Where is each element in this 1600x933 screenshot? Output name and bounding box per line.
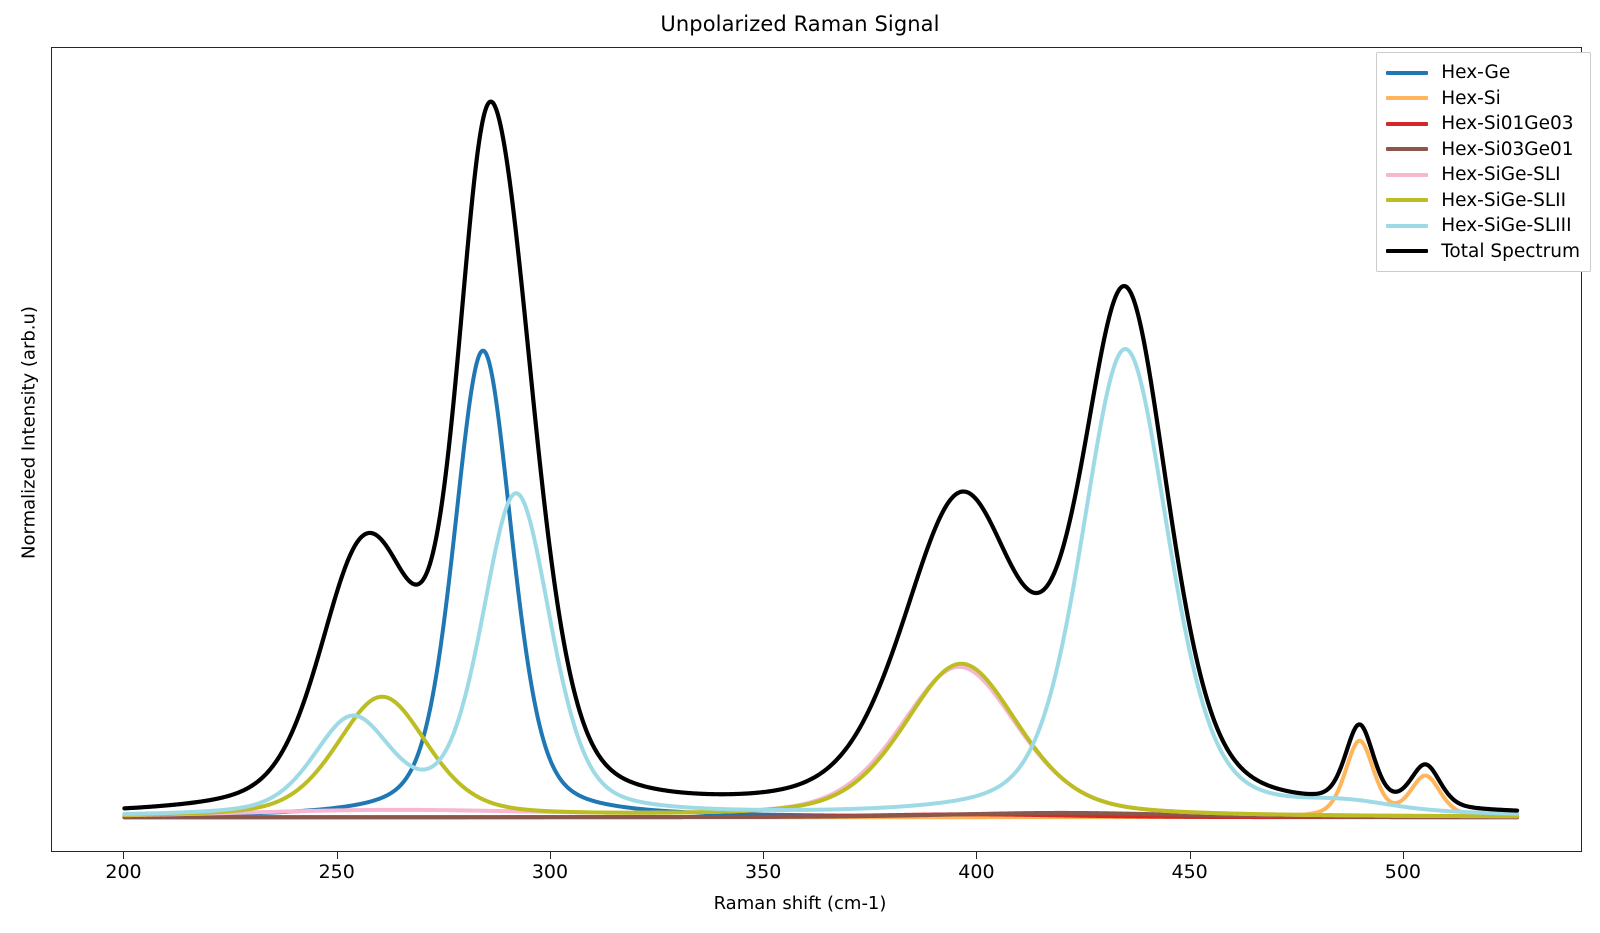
- legend-swatch-icon: [1386, 147, 1428, 151]
- x-tick-label-200: 200: [105, 861, 141, 883]
- x-tick-label-400: 400: [958, 861, 994, 883]
- page-title: Unpolarized Raman Signal: [0, 12, 1600, 36]
- legend-item-hex-sige-sliii[interactable]: Hex-SiGe-SLIII: [1386, 213, 1580, 239]
- legend-swatch-icon: [1386, 249, 1428, 253]
- legend-swatch-icon: [1386, 96, 1428, 100]
- legend-item-hex-sige-slii[interactable]: Hex-SiGe-SLII: [1386, 188, 1580, 214]
- x-tick-200: [123, 852, 124, 859]
- x-tick-label-250: 250: [319, 861, 355, 883]
- series-line-total-spectrum: [124, 102, 1517, 811]
- legend-swatch-icon: [1386, 173, 1428, 177]
- x-tick-label-350: 350: [745, 861, 781, 883]
- legend-label: Hex-Si03Ge01: [1441, 139, 1573, 160]
- legend-item-hex-si01ge03[interactable]: Hex-Si01Ge03: [1386, 111, 1580, 137]
- y-axis-label: Normalized Intensity (arb.u): [19, 233, 40, 633]
- legend-label: Hex-Si: [1441, 88, 1500, 109]
- x-axis-label: Raman shift (cm-1): [0, 893, 1600, 914]
- legend-label: Hex-Ge: [1441, 62, 1510, 83]
- x-tick-450: [1190, 852, 1191, 859]
- legend-item-hex-ge[interactable]: Hex-Ge: [1386, 60, 1580, 86]
- x-tick-500: [1403, 852, 1404, 859]
- legend-label: Hex-SiGe-SLII: [1441, 190, 1566, 211]
- legend-swatch-icon: [1386, 122, 1428, 126]
- spectrum-plot: [52, 48, 1581, 851]
- legend-label: Hex-Si01Ge03: [1441, 113, 1573, 134]
- legend-item-hex-si03ge01[interactable]: Hex-Si03Ge01: [1386, 137, 1580, 163]
- legend-swatch-icon: [1386, 71, 1428, 75]
- legend-label: Hex-SiGe-SLI: [1441, 164, 1560, 185]
- x-tick-350: [763, 852, 764, 859]
- series-line-hex-sige-sliii: [124, 349, 1517, 814]
- legend: Hex-GeHex-SiHex-Si01Ge03Hex-Si03Ge01Hex-…: [1376, 52, 1591, 272]
- legend-item-total-spectrum[interactable]: Total Spectrum: [1386, 239, 1580, 265]
- raman-figure: Unpolarized Raman Signal 200250300350400…: [0, 0, 1600, 933]
- legend-item-hex-sige-sli[interactable]: Hex-SiGe-SLI: [1386, 162, 1580, 188]
- x-tick-label-300: 300: [532, 861, 568, 883]
- legend-label: Total Spectrum: [1441, 241, 1580, 262]
- x-tick-label-450: 450: [1172, 861, 1208, 883]
- legend-label: Hex-SiGe-SLIII: [1441, 215, 1571, 236]
- legend-swatch-icon: [1386, 198, 1428, 202]
- legend-swatch-icon: [1386, 224, 1428, 228]
- x-tick-400: [976, 852, 977, 859]
- legend-item-hex-si[interactable]: Hex-Si: [1386, 86, 1580, 112]
- x-tick-250: [337, 852, 338, 859]
- plot-area: [51, 47, 1582, 852]
- x-tick-label-500: 500: [1385, 861, 1421, 883]
- x-tick-300: [550, 852, 551, 859]
